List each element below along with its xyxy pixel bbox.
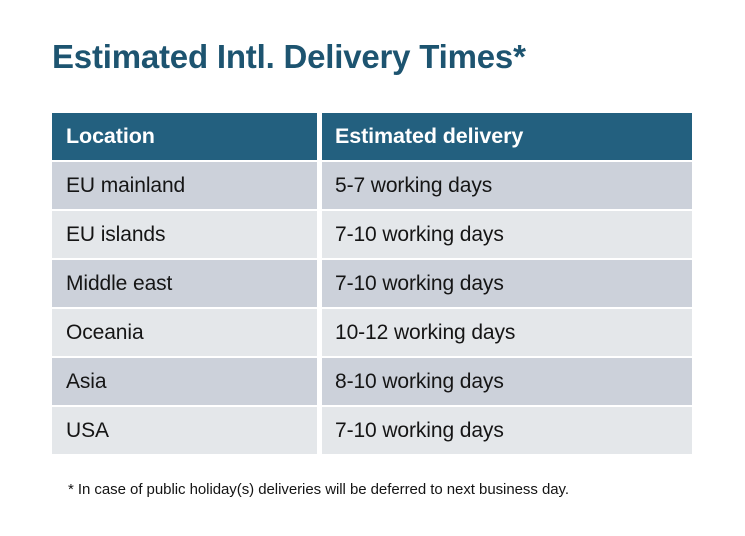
table-cell-location: EU mainland — [52, 162, 317, 209]
table-cell-delivery: 10-12 working days — [322, 309, 692, 356]
table-row: Middle east 7-10 working days — [52, 260, 692, 307]
table-cell-location-text: EU mainland — [66, 174, 185, 198]
table-cell-location-text: Middle east — [66, 272, 172, 296]
table-cell-location: Oceania — [52, 309, 317, 356]
table-row: USA 7-10 working days — [52, 407, 692, 454]
table-cell-location-text: USA — [66, 419, 109, 443]
table-row: Oceania 10-12 working days — [52, 309, 692, 356]
table-cell-delivery-text: 7-10 working days — [335, 419, 504, 443]
table-row: EU islands 7-10 working days — [52, 211, 692, 258]
table-row: Asia 8-10 working days — [52, 358, 692, 405]
table-cell-delivery-text: 10-12 working days — [335, 321, 515, 345]
table-cell-location: USA — [52, 407, 317, 454]
table-cell-delivery-text: 8-10 working days — [335, 370, 504, 394]
table-cell-location-text: EU islands — [66, 223, 165, 247]
table-header-label-delivery: Estimated delivery — [335, 124, 523, 149]
table-cell-delivery: 5-7 working days — [322, 162, 692, 209]
table-cell-location-text: Asia — [66, 370, 106, 394]
table-cell-delivery: 8-10 working days — [322, 358, 692, 405]
table-cell-location: Asia — [52, 358, 317, 405]
page-title: Estimated Intl. Delivery Times* — [52, 36, 526, 78]
table-row: EU mainland 5-7 working days — [52, 162, 692, 209]
table-cell-delivery-text: 7-10 working days — [335, 272, 504, 296]
table-header-label-location: Location — [66, 124, 155, 149]
table-cell-delivery-text: 7-10 working days — [335, 223, 504, 247]
table-cell-delivery: 7-10 working days — [322, 260, 692, 307]
table-cell-location: EU islands — [52, 211, 317, 258]
footnote: * In case of public holiday(s) deliverie… — [68, 480, 569, 500]
table-header-cell-location: Location — [52, 113, 317, 160]
delivery-times-table: Location Estimated delivery EU mainland … — [52, 113, 692, 456]
table-cell-delivery-text: 5-7 working days — [335, 174, 492, 198]
table-cell-delivery: 7-10 working days — [322, 211, 692, 258]
table-cell-location-text: Oceania — [66, 321, 144, 345]
table-cell-location: Middle east — [52, 260, 317, 307]
table-header-cell-delivery: Estimated delivery — [322, 113, 692, 160]
table-header-row: Location Estimated delivery — [52, 113, 692, 160]
table-cell-delivery: 7-10 working days — [322, 407, 692, 454]
delivery-times-page: Estimated Intl. Delivery Times* Location… — [0, 0, 745, 536]
